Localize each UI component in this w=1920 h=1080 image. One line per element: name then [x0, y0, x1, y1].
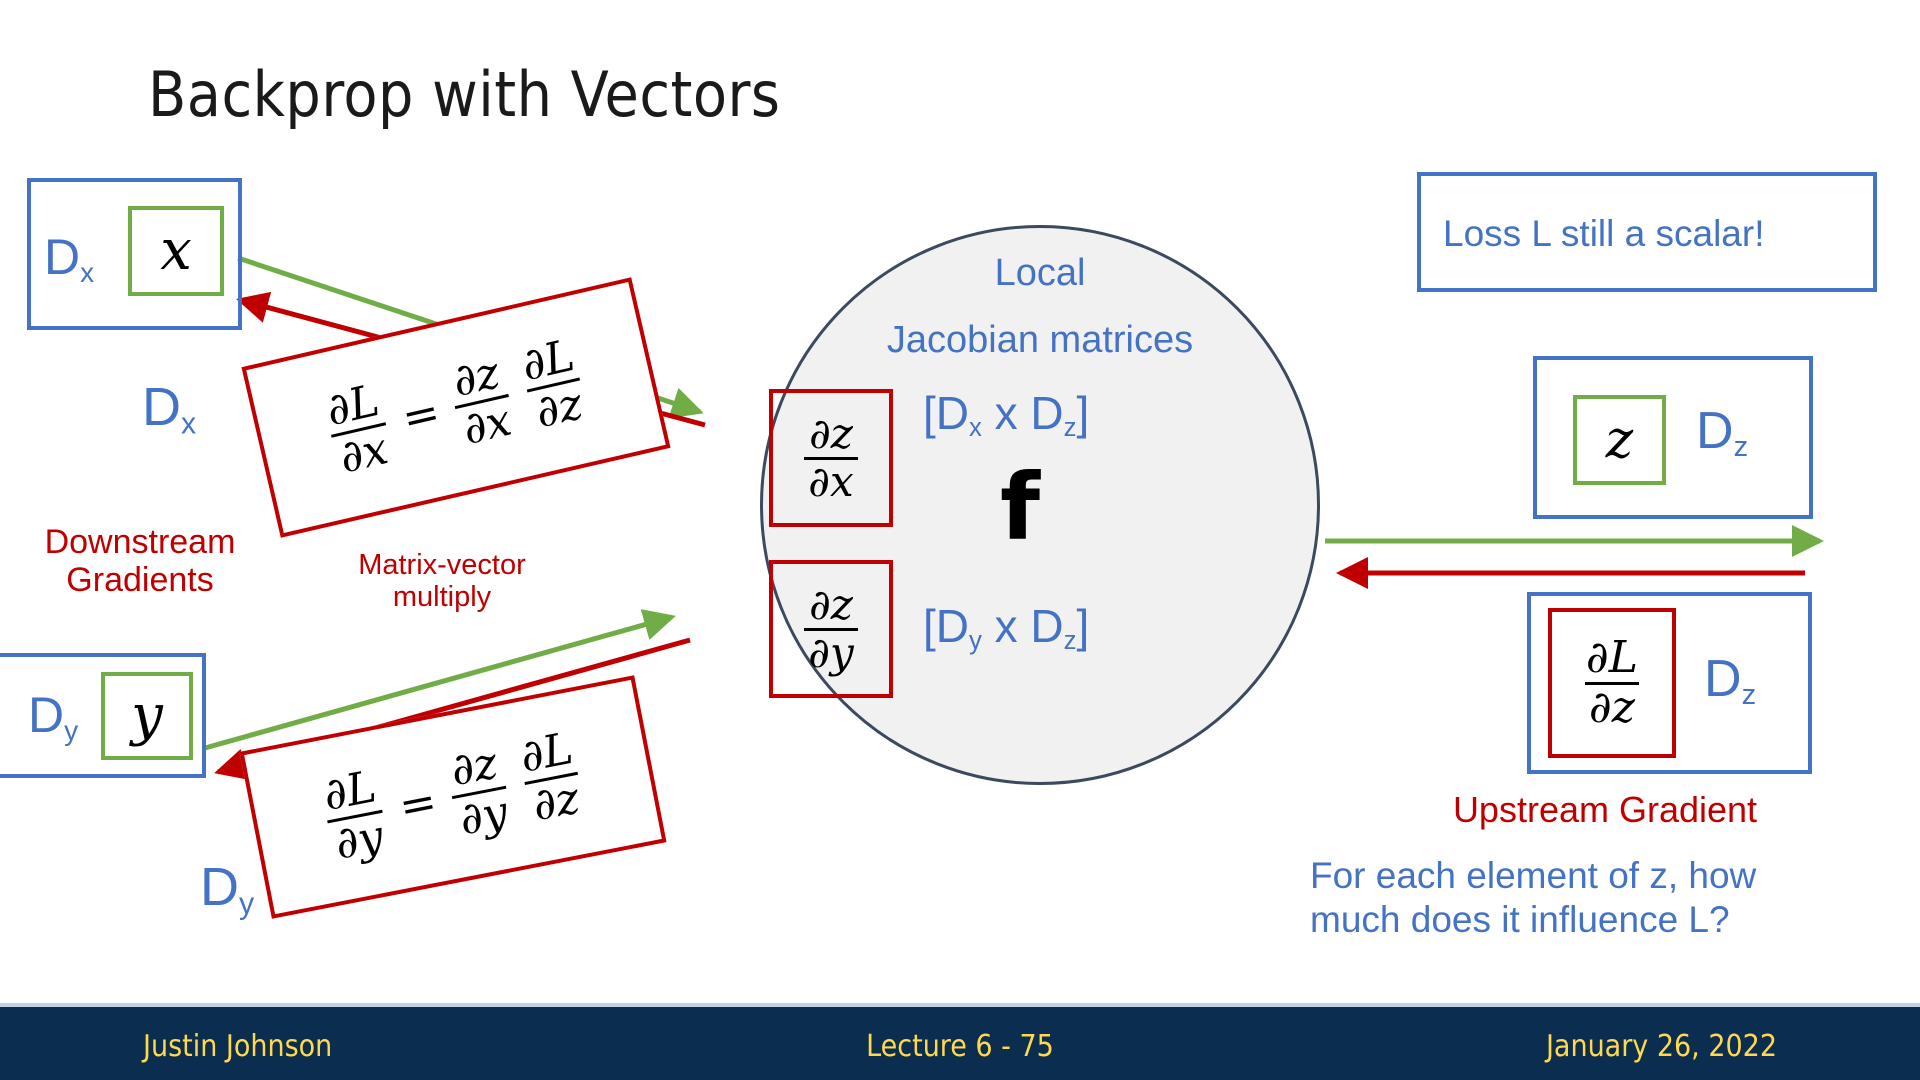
input-x-dim-caption-letter: D	[142, 377, 181, 437]
output-z-dim-label: Dz	[1696, 405, 1748, 462]
chain-rule-y-lhs-den: ∂y	[327, 809, 391, 868]
input-x-dim-caption-subscript: x	[181, 407, 196, 440]
input-y-dim-label: Dy	[28, 690, 78, 745]
chain-rule-y-rhs1: ∂z ∂y	[443, 740, 516, 844]
chain-rule-y-rhs2: ∂L ∂z	[513, 725, 590, 830]
chain-rule-x-rhs1: ∂z ∂x	[444, 349, 520, 454]
downstream-gradients-line1: Downstream	[10, 523, 270, 561]
chain-rule-y-rhs1-den: ∂y	[451, 785, 515, 844]
matrix-vector-line2: multiply	[322, 581, 562, 613]
jacobian-y-shape-sub1: y	[969, 627, 982, 655]
function-symbol: f	[960, 462, 1080, 554]
output-z-dim-subscript: z	[1734, 431, 1749, 463]
input-y-dim-caption: Dy	[200, 860, 254, 920]
input-x-dim-caption: Dx	[142, 380, 196, 440]
circle-heading-line2: Jacobian matrices	[760, 319, 1320, 362]
input-y-dim-letter: D	[28, 687, 64, 743]
chain-rule-x-equals: =	[397, 387, 444, 445]
upstream-grad-dim-letter: D	[1704, 650, 1742, 708]
upstream-question-text: For each element of z, how much does it …	[1310, 854, 1910, 941]
input-x-variable: x	[160, 223, 192, 279]
output-z-value-box: z	[1573, 395, 1666, 485]
upstream-grad-dim-label: Dz	[1704, 653, 1756, 710]
input-y-dim-caption-subscript: y	[239, 887, 254, 920]
chain-rule-y-rhs2-den: ∂z	[525, 771, 587, 830]
jacobian-y-shape: [Dy x Dz]	[923, 603, 1089, 655]
matrix-vector-caption: Matrix-vector multiply	[322, 549, 562, 614]
jacobian-x-shape-close: ]	[1077, 387, 1090, 439]
jacobian-y-fraction: ∂z ∂y	[804, 583, 857, 674]
input-y-variable: y	[131, 688, 163, 744]
chain-rule-y-equals: =	[395, 775, 441, 832]
jacobian-x-den: ∂x	[804, 457, 857, 504]
jacobian-y-shape-open: [D	[923, 600, 969, 652]
output-z-dim-letter: D	[1696, 402, 1734, 460]
jacobian-x-shape-sub1: x	[969, 414, 982, 442]
upstream-question-line1: For each element of z, how	[1310, 854, 1910, 898]
jacobian-y-shape-sub2: z	[1064, 627, 1077, 655]
chain-rule-x-rhs2: ∂L ∂z	[514, 332, 594, 438]
jacobian-y-shape-mid: x D	[982, 600, 1064, 652]
upstream-gradient-caption: Upstream Gradient	[1340, 790, 1870, 830]
input-y-value-box: y	[101, 672, 193, 760]
jacobian-x-shape: [Dx x Dz]	[923, 390, 1089, 442]
input-x-dim-label: Dx	[44, 232, 94, 287]
jacobian-x-shape-sub2: z	[1064, 414, 1077, 442]
jacobian-y-shape-close: ]	[1077, 600, 1090, 652]
upstream-grad-den: ∂z	[1585, 682, 1639, 731]
chain-rule-x-card: ∂L ∂x = ∂z ∂x ∂L ∂z	[241, 277, 670, 537]
upstream-grad-fraction: ∂L ∂z	[1582, 635, 1642, 730]
upstream-question-line2: much does it influence L?	[1310, 898, 1910, 942]
slide-canvas: Backprop with Vectors Dx x Dx	[0, 0, 1920, 1080]
jacobian-x-fraction: ∂z ∂x	[804, 412, 857, 503]
chain-rule-x-lhs-den: ∂x	[331, 422, 396, 482]
jacobian-y-box: ∂z ∂y	[769, 560, 893, 698]
jacobian-x-shape-open: [D	[923, 387, 969, 439]
jacobian-x-box: ∂z ∂x	[769, 389, 893, 527]
footer-date: January 26, 2022	[1546, 1029, 1777, 1064]
input-x-dim-letter: D	[44, 229, 80, 285]
loss-note-text: Loss L still a scalar!	[1443, 212, 1764, 256]
chain-rule-y-card: ∂L ∂y = ∂z ∂y ∂L ∂z	[239, 675, 666, 919]
input-x-dim-subscript: x	[80, 257, 94, 288]
jacobian-x-shape-mid: x D	[982, 387, 1064, 439]
circle-heading-line1: Local	[760, 252, 1320, 295]
input-y-dim-caption-letter: D	[200, 857, 239, 917]
input-x-value-box: x	[128, 206, 224, 296]
chain-rule-x-lhs: ∂L ∂x	[318, 377, 398, 483]
upstream-grad-dim-subscript: z	[1742, 679, 1757, 711]
chain-rule-y-lhs: ∂L ∂y	[316, 764, 393, 869]
jacobian-y-num: ∂z	[805, 583, 857, 627]
downstream-gradients-line2: Gradients	[10, 561, 270, 599]
chain-rule-x-rhs1-den: ∂x	[454, 394, 519, 454]
matrix-vector-line1: Matrix-vector	[322, 549, 562, 581]
footer-bar: Justin Johnson Lecture 6 - 75 January 26…	[0, 1003, 1920, 1080]
page-title: Backprop with Vectors	[148, 58, 780, 131]
output-z-variable: z	[1606, 414, 1633, 466]
input-y-dim-subscript: y	[64, 715, 78, 746]
jacobian-y-den: ∂y	[804, 628, 857, 675]
upstream-grad-value-box: ∂L ∂z	[1548, 608, 1676, 758]
jacobian-x-num: ∂z	[805, 412, 857, 456]
chain-rule-x-rhs2-den: ∂z	[527, 377, 591, 437]
downstream-gradients-caption: Downstream Gradients	[10, 523, 270, 599]
upstream-grad-num: ∂L	[1582, 635, 1642, 681]
